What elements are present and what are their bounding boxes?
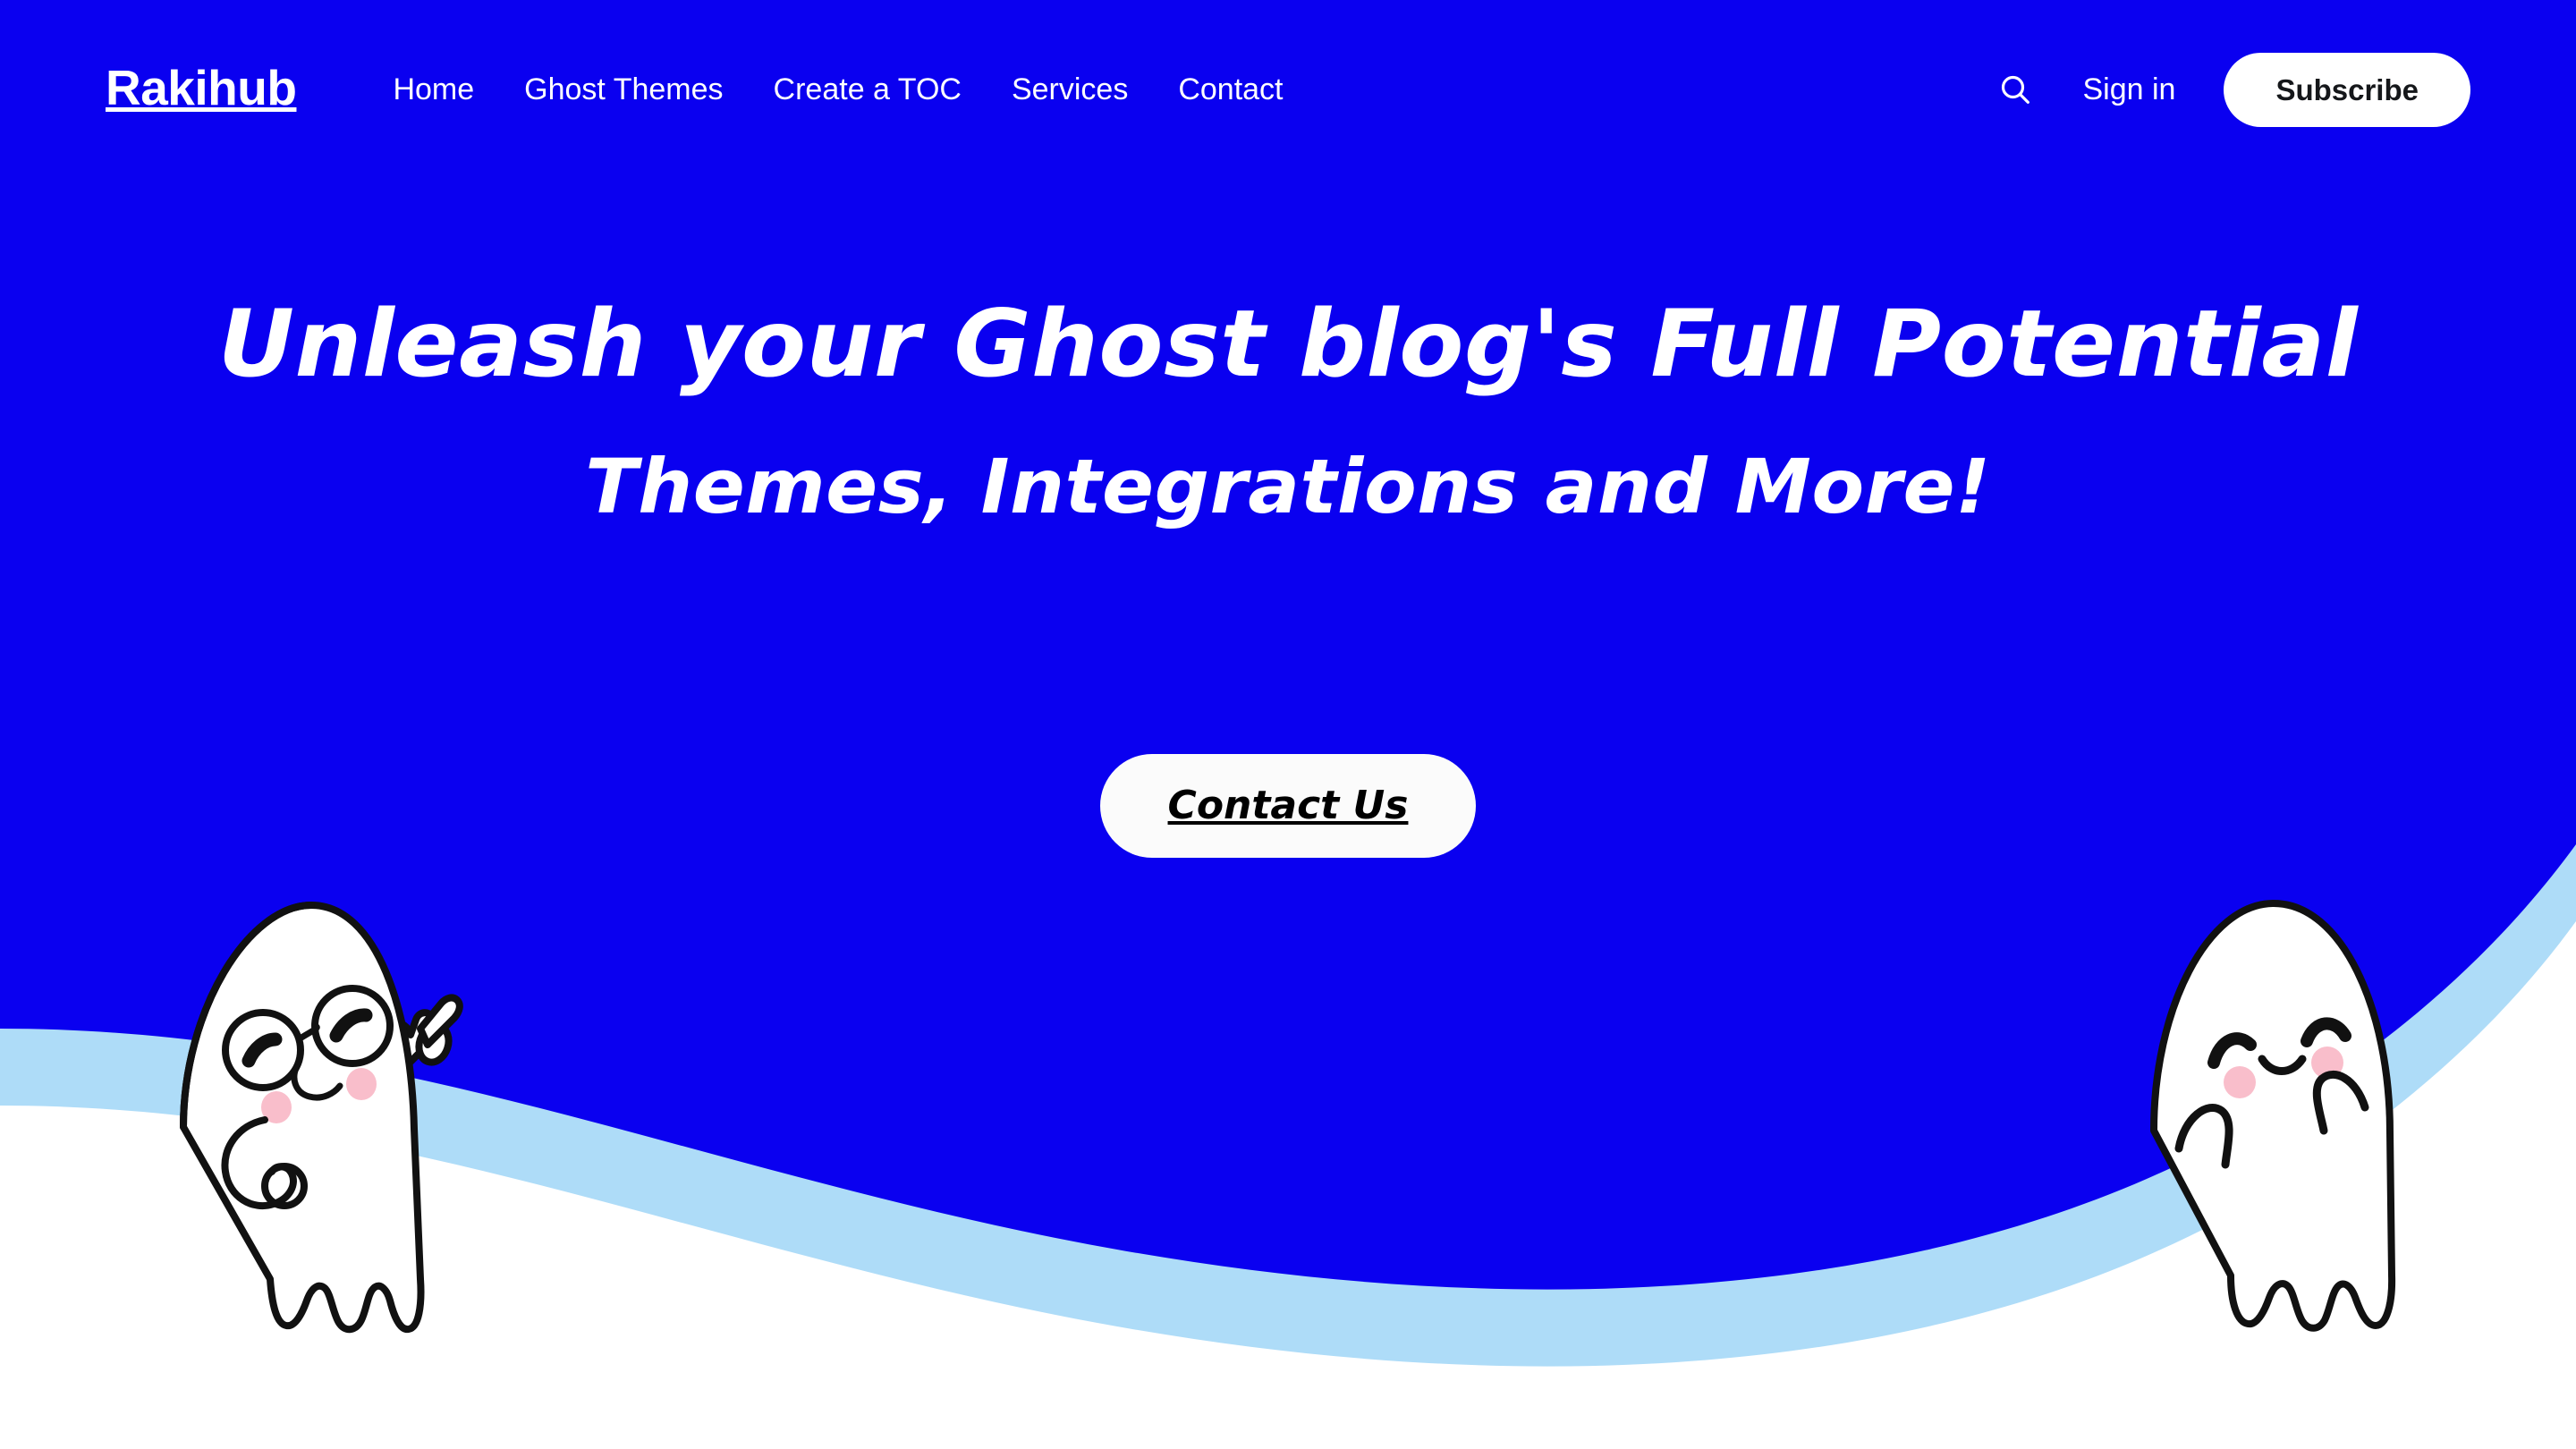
ghost-right-body	[2154, 903, 2392, 1328]
contact-us-button[interactable]: Contact Us	[1100, 754, 1477, 858]
header-actions: Sign in Subscribe	[1987, 53, 2470, 127]
ghost-with-glasses-waving-illustration	[159, 885, 517, 1351]
nav-item-contact[interactable]: Contact	[1153, 62, 1308, 117]
search-button[interactable]	[1987, 62, 2043, 117]
nav-item-services[interactable]: Services	[987, 62, 1153, 117]
site-logo[interactable]: Rakihub	[106, 64, 296, 113]
ghost-right-blush-left	[2224, 1066, 2256, 1098]
sign-in-link[interactable]: Sign in	[2063, 62, 2195, 117]
ghost-smiling-arms-up-illustration	[2122, 884, 2426, 1349]
page-root: Rakihub Home Ghost Themes Create a TOC S…	[0, 0, 2576, 1449]
ghost-left-blush-right	[346, 1068, 377, 1100]
search-icon	[1997, 72, 2033, 107]
nav-item-ghost-themes[interactable]: Ghost Themes	[499, 62, 748, 117]
nav-item-create-a-toc[interactable]: Create a TOC	[749, 62, 987, 117]
hero-cta-wrapper: Contact Us	[0, 754, 2576, 858]
nav-item-home[interactable]: Home	[368, 62, 499, 117]
subscribe-button[interactable]: Subscribe	[2224, 53, 2470, 127]
main-navigation: Home Ghost Themes Create a TOC Services …	[368, 62, 1308, 117]
ghost-left-body	[183, 905, 420, 1329]
site-header: Rakihub Home Ghost Themes Create a TOC S…	[0, 0, 2576, 179]
